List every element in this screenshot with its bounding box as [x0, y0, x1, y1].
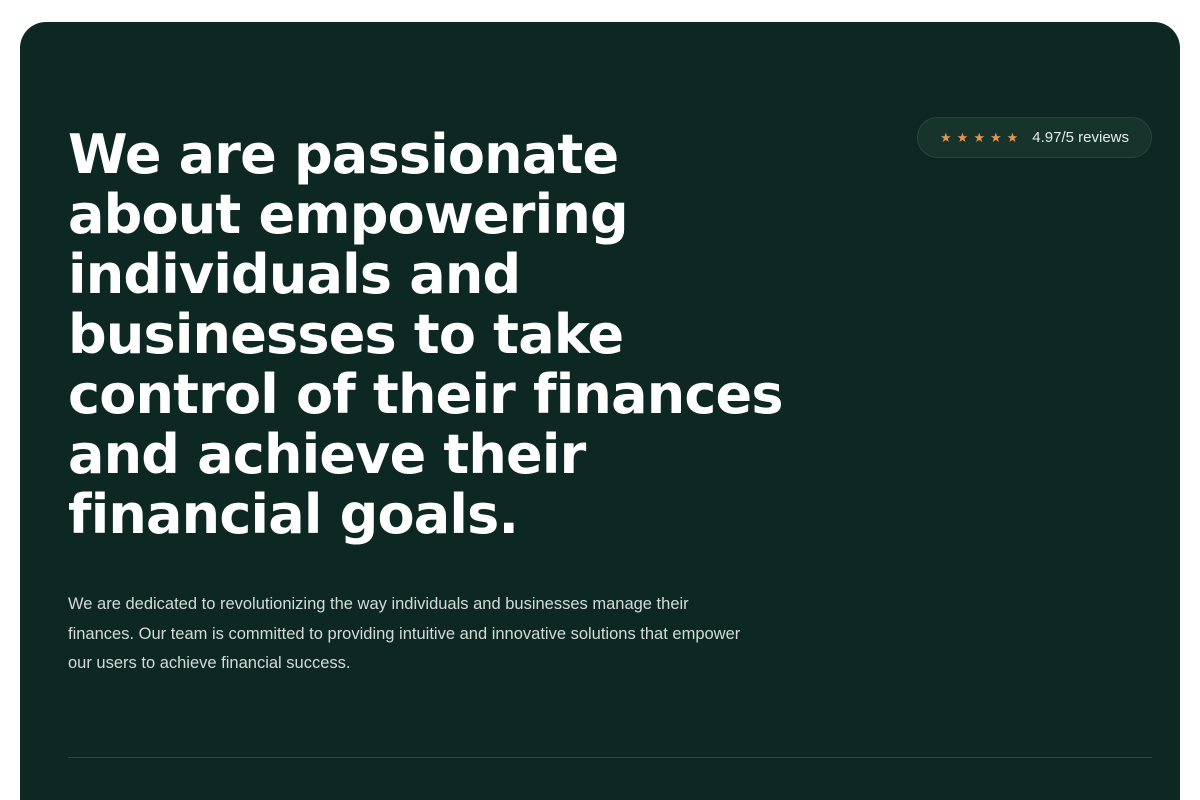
hero-card: ★ ★ ★ ★ ★ 4.97/5 reviews We are passiona…: [20, 22, 1180, 800]
star-icon: ★: [973, 131, 985, 144]
page-title: We are passionate about empowering indiv…: [68, 125, 798, 545]
section-divider: [68, 757, 1152, 758]
star-icon: ★: [990, 131, 1002, 144]
star-icon: ★: [1007, 131, 1019, 144]
star-rating: ★ ★ ★ ★ ★: [940, 131, 1018, 144]
star-icon: ★: [940, 131, 952, 144]
rating-badge[interactable]: ★ ★ ★ ★ ★ 4.97/5 reviews: [917, 117, 1152, 158]
rating-label: 4.97/5 reviews: [1032, 130, 1129, 145]
hero-content: ★ ★ ★ ★ ★ 4.97/5 reviews We are passiona…: [68, 22, 1152, 800]
star-icon: ★: [957, 131, 969, 144]
hero-description: We are dedicated to revolutionizing the …: [68, 590, 748, 679]
